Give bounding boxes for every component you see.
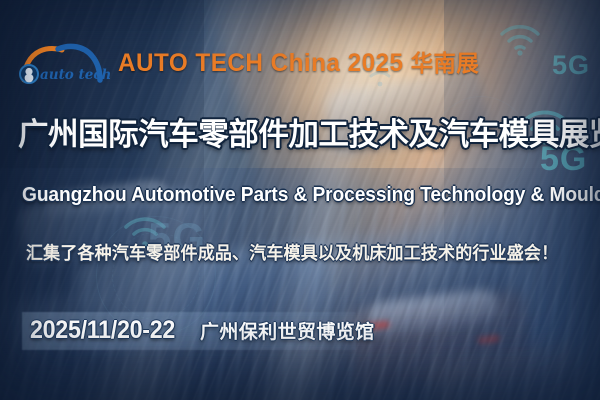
page-title-en: Guangzhou Automotive Parts & Processing … <box>22 183 600 207</box>
auto-tech-car-logo: auto tech <box>14 38 110 84</box>
brand-line-en: AUTO TECH China 2025 <box>118 49 403 77</box>
brand-line-cn: 华南展 <box>411 50 479 76</box>
date-venue-row: 2025/11/20-22 广州保利世贸博览馆 <box>30 316 375 345</box>
event-venue: 广州保利世贸博览馆 <box>200 317 375 344</box>
poster-content: auto tech AUTO TECH China 2025 华南展 广州国际汽… <box>0 0 600 400</box>
poster-header: auto tech AUTO TECH China 2025 华南展 <box>14 38 490 84</box>
logo-wordmark: auto tech <box>40 67 110 83</box>
expo-poster: 5G 5G 5G <box>0 0 600 400</box>
tagline: 汇集了各种汽车零部件成品、汽车模具以及机床加工技术的行业盛会！ <box>26 240 558 265</box>
event-date: 2025/11/20-22 <box>30 316 175 345</box>
page-title-cn: 广州国际汽车零部件加工技术及汽车模具展览会 <box>18 118 577 152</box>
brand-line: AUTO TECH China 2025 华南展 <box>118 44 479 78</box>
